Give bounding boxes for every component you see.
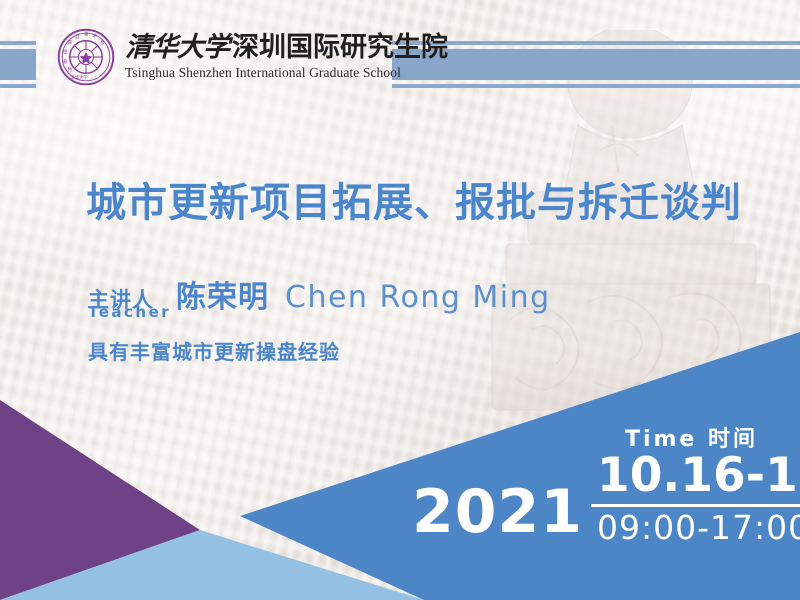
speaker-name-en: Chen Rong Ming xyxy=(285,280,551,315)
svg-text:清华大学: 清华大学 xyxy=(70,74,88,81)
logo-calligraphy-part: 清华大学 xyxy=(125,32,232,62)
date-detail-stack: 10.16-17 日 09:00-17:00 xyxy=(591,452,800,546)
poster-canvas: 自强不息 厚德载物 清华大学· 清华大学深圳国际研究生院 Tsinghua Sh… xyxy=(0,0,800,600)
svg-text:·: · xyxy=(95,75,96,80)
event-year: 2021 xyxy=(412,482,583,542)
logo-english-title: Tsinghua Shenzhen International Graduate… xyxy=(125,65,448,81)
svg-text:物: 物 xyxy=(68,66,73,73)
page-title: 城市更新项目拓展、报批与拆迁谈判 xyxy=(86,170,742,228)
date-block: 2021 10.16-17 日 09:00-17:00 xyxy=(412,452,800,546)
logo-chinese-title: 清华大学深圳国际研究生院 xyxy=(125,33,448,62)
event-hours: 09:00-17:00 xyxy=(591,507,800,546)
svg-text:不: 不 xyxy=(93,34,98,40)
decorative-stripe-left xyxy=(0,41,36,88)
svg-text:强: 强 xyxy=(84,32,89,38)
svg-text:载: 载 xyxy=(63,58,68,65)
institution-logo: 自强不息 厚德载物 清华大学· 清华大学深圳国际研究生院 Tsinghua Sh… xyxy=(57,28,448,86)
speaker-role-label-en: Teacher xyxy=(88,303,171,321)
decorative-stripe-right xyxy=(392,41,800,88)
date-range-row: 10.16-17 日 xyxy=(591,452,800,504)
event-date-range: 10.16-17 xyxy=(597,452,800,499)
speaker-bio: 具有丰富城市更新操盘经验 xyxy=(88,336,340,365)
logo-regular-part: 深圳国际研究生院 xyxy=(232,32,448,62)
svg-text:厚: 厚 xyxy=(68,40,73,46)
speaker-name-cn: 陈荣明 xyxy=(176,272,269,316)
tsinghua-seal-icon: 自强不息 厚德载物 清华大学· xyxy=(57,28,115,86)
